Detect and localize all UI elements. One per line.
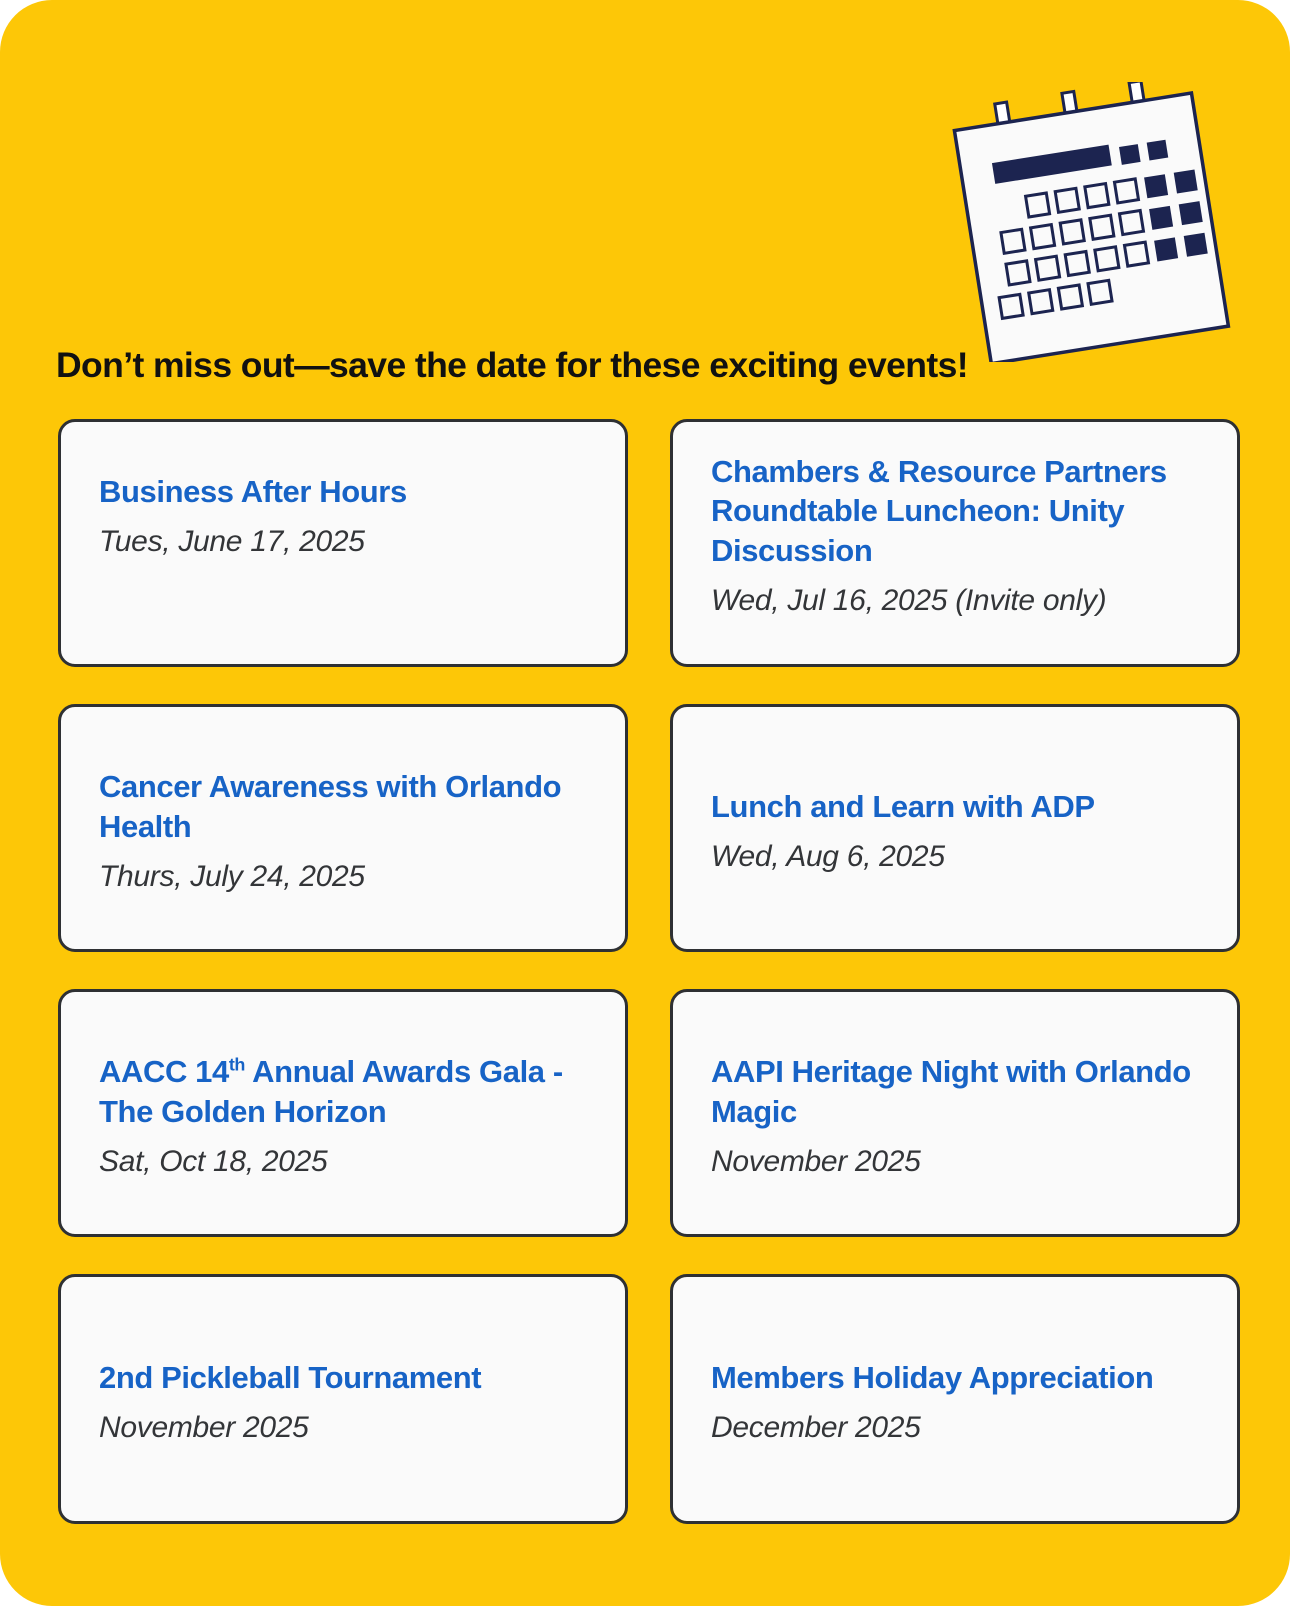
- event-title: 2nd Pickleball Tournament: [99, 1358, 591, 1397]
- event-date: Wed, Aug 6, 2025: [711, 839, 1203, 875]
- event-title: Business After Hours: [99, 472, 591, 511]
- event-date: November 2025: [711, 1144, 1203, 1180]
- event-date: Wed, Jul 16, 2025 (Invite only): [711, 583, 1203, 619]
- ordinal-suffix: th: [229, 1055, 245, 1075]
- event-card[interactable]: AACC 14th Annual Awards Gala - The Golde…: [58, 989, 628, 1237]
- event-date: Thurs, July 24, 2025: [99, 859, 591, 895]
- event-card[interactable]: Chambers & Resource Partners Roundtable …: [670, 419, 1240, 667]
- event-title: Members Holiday Appreciation: [711, 1358, 1203, 1397]
- event-date: Tues, June 17, 2025: [99, 524, 591, 560]
- event-card[interactable]: AAPI Heritage Night with Orlando Magic N…: [670, 989, 1240, 1237]
- event-title: AAPI Heritage Night with Orlando Magic: [711, 1052, 1203, 1131]
- page-headline: Don’t miss out—save the date for these e…: [56, 345, 1206, 386]
- event-card[interactable]: 2nd Pickleball Tournament November 2025: [58, 1274, 628, 1524]
- calendar-illustration: [944, 82, 1244, 362]
- event-card[interactable]: Cancer Awareness with Orlando Health Thu…: [58, 704, 628, 952]
- event-date: November 2025: [99, 1410, 591, 1446]
- event-card[interactable]: Lunch and Learn with ADP Wed, Aug 6, 202…: [670, 704, 1240, 952]
- event-date: December 2025: [711, 1410, 1203, 1446]
- event-announcement-page: Don’t miss out—save the date for these e…: [0, 0, 1290, 1606]
- events-grid: Business After Hours Tues, June 17, 2025…: [58, 419, 1240, 1524]
- event-title: Chambers & Resource Partners Roundtable …: [711, 452, 1203, 570]
- event-title: Lunch and Learn with ADP: [711, 787, 1203, 826]
- event-card[interactable]: Members Holiday Appreciation December 20…: [670, 1274, 1240, 1524]
- event-title: AACC 14th Annual Awards Gala - The Golde…: [99, 1052, 591, 1131]
- event-date: Sat, Oct 18, 2025: [99, 1144, 591, 1180]
- event-title: Cancer Awareness with Orlando Health: [99, 767, 591, 846]
- calendar-icon: [944, 82, 1244, 362]
- event-card[interactable]: Business After Hours Tues, June 17, 2025: [58, 419, 628, 667]
